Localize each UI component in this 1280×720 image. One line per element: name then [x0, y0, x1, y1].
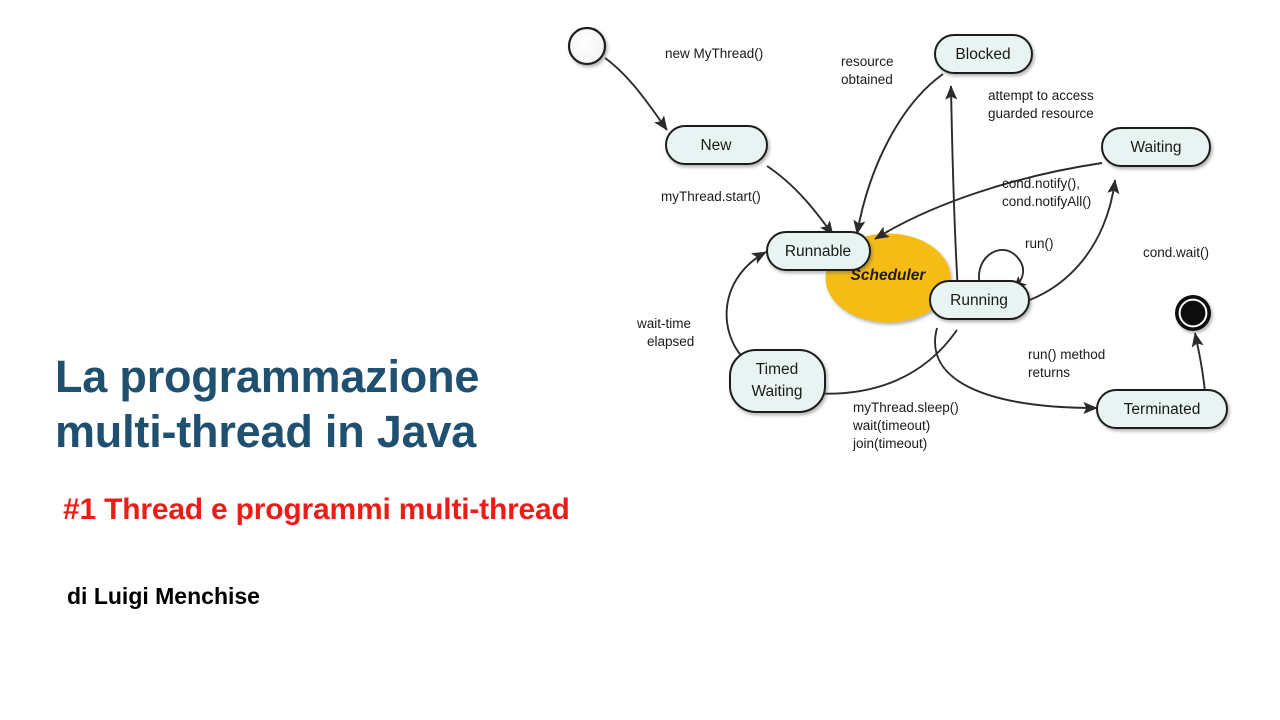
state-label-blocked: Blocked [955, 46, 1010, 63]
edge-label-running-to-timed-waiting-line-2: wait(timeout) [852, 418, 930, 433]
edge-timed-waiting-to-runnable [727, 252, 766, 366]
edge-label-waiting-to-runnable-line-1: cond.notify(), [1002, 176, 1080, 191]
edge-label-running-self-loop: run() [1025, 236, 1054, 251]
edge-start-to-new [605, 58, 667, 130]
page-subtitle: #1 Thread e programmi multi-thread [63, 492, 663, 528]
title-block: La programmazione multi-thread in Java #… [0, 340, 640, 630]
state-label-new: New [700, 137, 732, 154]
edge-label-waiting-to-runnable-line-2: cond.notifyAll() [1002, 194, 1091, 209]
initial-state-circle [569, 28, 605, 64]
edge-label-running-to-blocked-line-1: attempt to access [988, 88, 1094, 103]
state-node-new: New [666, 126, 767, 164]
state-node-runnable: Runnable [767, 232, 870, 270]
state-node-running: Running [930, 281, 1029, 319]
state-node-waiting: Waiting [1102, 128, 1210, 166]
edge-label-running-to-terminated-line-2: returns [1028, 365, 1070, 380]
edge-label-running-to-blocked-line-2: guarded resource [988, 106, 1094, 121]
edge-label-timed-waiting-to-runnable-line-2: elapsed [647, 334, 694, 349]
edge-terminated-to-final [1195, 333, 1205, 393]
edge-new-to-runnable [767, 166, 833, 235]
state-diagram-svg: New Runnable Scheduler Running Blocked [545, 8, 1280, 478]
state-label-running: Running [950, 292, 1008, 309]
state-node-blocked: Blocked [935, 35, 1032, 73]
edge-label-start-to-new: new MyThread() [665, 46, 763, 61]
edge-label-timed-waiting-to-runnable-line-1: wait-time [636, 316, 691, 331]
edge-label-running-to-terminated-line-1: run() method [1028, 347, 1105, 362]
edge-label-blocked-to-runnable-line-1: resource [841, 54, 894, 69]
edge-label-running-to-timed-waiting-line-3: join(timeout) [852, 436, 927, 451]
edge-label-blocked-to-runnable-line-2: obtained [841, 72, 893, 87]
state-node-timed-waiting: Timed Waiting [730, 350, 825, 412]
author-byline: di Luigi Menchise [67, 583, 567, 611]
thread-state-diagram: New Runnable Scheduler Running Blocked [545, 8, 1280, 478]
final-state-circle [1175, 295, 1211, 331]
edge-running-to-terminated [935, 328, 1097, 408]
slide-canvas: La programmazione multi-thread in Java #… [0, 0, 1280, 720]
edge-label-new-to-runnable: myThread.start() [661, 189, 761, 204]
state-label-runnable: Runnable [785, 243, 851, 260]
edge-running-to-blocked [951, 86, 958, 293]
state-label-timed-waiting-line-1: Timed [756, 361, 799, 378]
edge-label-running-to-timed-waiting-line-1: myThread.sleep() [853, 400, 959, 415]
state-label-terminated: Terminated [1124, 401, 1201, 418]
state-label-waiting: Waiting [1130, 139, 1181, 156]
edge-label-running-to-waiting: cond.wait() [1143, 245, 1209, 260]
state-label-timed-waiting-line-2: Waiting [751, 383, 802, 400]
scheduler-label: Scheduler [851, 267, 927, 284]
state-node-terminated: Terminated [1097, 390, 1227, 428]
